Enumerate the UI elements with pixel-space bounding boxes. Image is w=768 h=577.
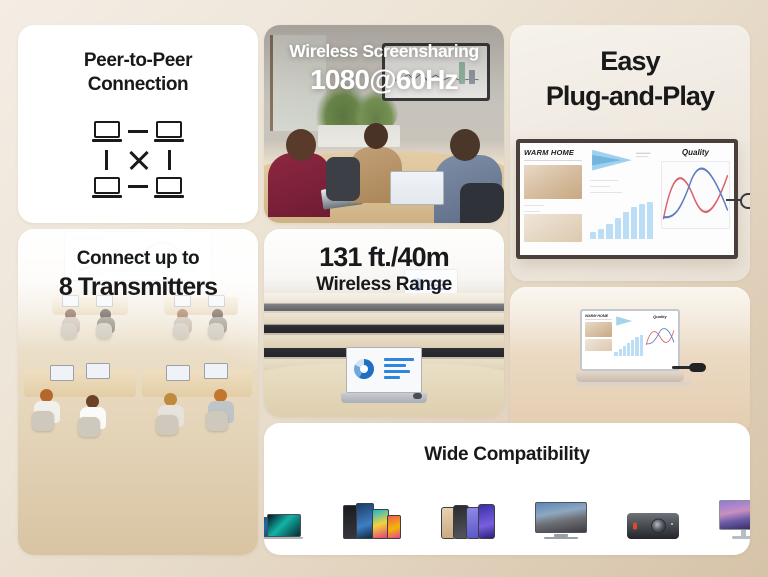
slide-bar-chart bbox=[590, 199, 653, 239]
laptop-icon bbox=[267, 514, 303, 539]
range-headline: 131 ft./40m bbox=[264, 229, 504, 274]
television-display: WARM HOME ————————— — bbox=[516, 139, 738, 259]
device-phones bbox=[441, 489, 495, 539]
slide-quality-label: Quality bbox=[661, 148, 730, 157]
device-list bbox=[264, 489, 750, 539]
laptop-icon bbox=[154, 121, 184, 143]
plug-and-play-title-line1: Easy bbox=[510, 25, 750, 78]
card-dongle-demo: WARM HOME bbox=[510, 287, 750, 435]
tablet-icon bbox=[387, 515, 401, 539]
tv-icon bbox=[535, 502, 587, 539]
plug-and-play-heading: Easy Plug-and-Play bbox=[510, 25, 750, 113]
transmitters-heading: Connect up to 8 Transmitters bbox=[18, 229, 258, 303]
connection-line-icon bbox=[168, 150, 171, 170]
slide-heading: WARM HOME bbox=[524, 148, 582, 157]
connection-line-icon bbox=[128, 130, 148, 133]
laptop-icon bbox=[92, 121, 122, 143]
card-wireless-range: 131 ft./40m Wireless Range bbox=[264, 229, 504, 417]
device-monitor bbox=[719, 489, 750, 539]
device-laptops bbox=[264, 489, 303, 539]
connection-line-icon bbox=[128, 185, 148, 188]
projector-icon bbox=[627, 513, 679, 539]
mesh-network-icon bbox=[18, 121, 258, 199]
screensharing-title: Wireless Screensharing bbox=[264, 25, 504, 62]
slide-quality-chart bbox=[661, 161, 730, 229]
range-heading: 131 ft./40m Wireless Range bbox=[264, 229, 504, 296]
wireless-transmitter-dongle bbox=[672, 363, 706, 372]
desk-dongle-photo: WARM HOME bbox=[510, 287, 750, 435]
phone-icon bbox=[478, 504, 495, 539]
device-tv bbox=[535, 489, 587, 539]
range-subtitle: Wireless Range bbox=[264, 273, 504, 296]
card-peer-to-peer: Peer-to-Peer Connection bbox=[18, 25, 258, 223]
card-transmitters: Total Traffic Curve bbox=[18, 229, 258, 555]
slide-column-middle: ———————————————————— bbox=[586, 143, 657, 255]
transmitters-title-line1: Connect up to bbox=[18, 229, 258, 270]
slide-photo bbox=[524, 165, 582, 199]
connection-line-icon bbox=[105, 150, 108, 170]
device-projector bbox=[627, 489, 679, 539]
cross-connection-icon bbox=[127, 150, 149, 171]
slide-photo bbox=[524, 214, 582, 242]
screensharing-heading: Wireless Screensharing 1080@60Hz bbox=[264, 25, 504, 98]
card-wide-compatibility: Wide Compatibility bbox=[264, 423, 750, 555]
slide-column-left: WARM HOME ————————— bbox=[520, 143, 586, 255]
device-tablets bbox=[343, 489, 401, 539]
card-plug-and-play: Easy Plug-and-Play WARM HOME ————————— bbox=[510, 25, 750, 281]
peer-to-peer-title-line2: Connection bbox=[18, 72, 258, 96]
laptop-icon bbox=[154, 177, 184, 199]
feature-grid: Peer-to-Peer Connection bbox=[18, 25, 750, 555]
wireless-dongle-icon bbox=[740, 193, 750, 209]
card-wireless-screensharing: Wireless Screensharing 1080@60Hz bbox=[264, 25, 504, 223]
monitor-icon bbox=[719, 500, 750, 539]
desk-laptop: WARM HOME bbox=[576, 309, 684, 386]
screensharing-headline: 1080@60Hz bbox=[264, 63, 504, 97]
peer-to-peer-title-line1: Peer-to-Peer bbox=[18, 25, 258, 72]
laptop-icon bbox=[92, 177, 122, 199]
transmitters-title-line2: 8 Transmitters bbox=[18, 272, 258, 303]
slide-column-right: Quality bbox=[657, 143, 734, 255]
peer-to-peer-heading: Peer-to-Peer Connection bbox=[18, 25, 258, 96]
compatibility-title: Wide Compatibility bbox=[264, 423, 750, 466]
plug-and-play-title-line2: Plug-and-Play bbox=[510, 78, 750, 113]
